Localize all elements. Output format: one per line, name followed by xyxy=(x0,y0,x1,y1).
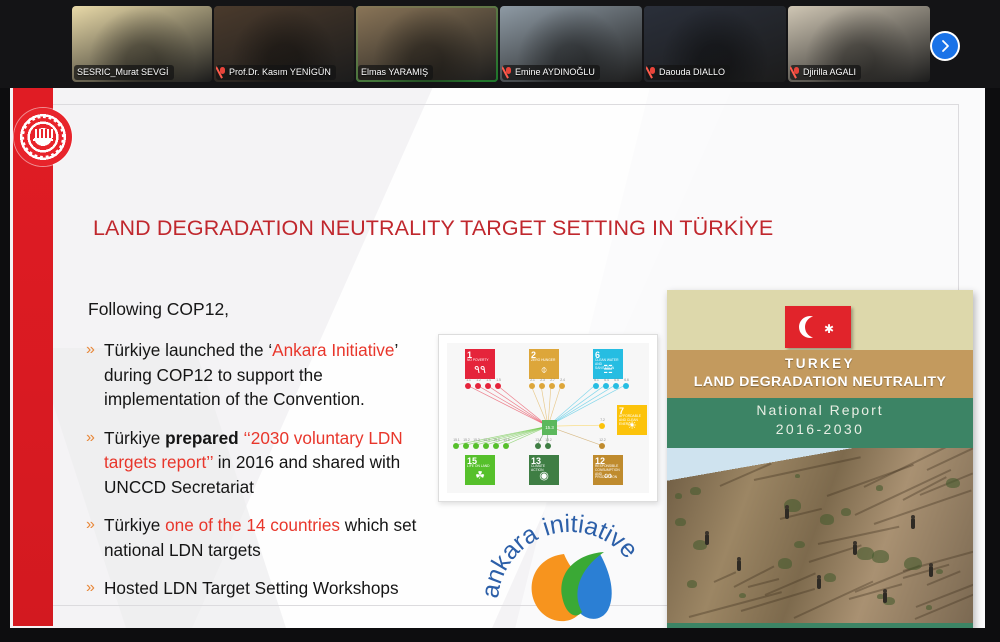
bullet-marker-icon: » xyxy=(82,513,104,562)
book-period: 2016-2030 xyxy=(667,421,973,437)
sdg-goal-12: 12RESPONSIBLE CONSUMPTION AND PRODUCTION… xyxy=(593,455,623,485)
sdg-target-label: 1.5 xyxy=(495,378,502,382)
sdg-target-label: 2.3 xyxy=(539,378,546,382)
photo-texture xyxy=(793,581,873,619)
sdg-target-labels: 15.115.215.315.415.515.9 xyxy=(453,438,510,442)
sdg-target-dots xyxy=(599,443,605,449)
bullet-text-run: Hosted LDN Target Setting Workshops xyxy=(104,578,399,598)
book-cover-image: ✱ TURKEY LAND DEGRADATION NEUTRALITY Nat… xyxy=(667,290,973,628)
photo-worker-figure xyxy=(737,560,741,571)
participant-name: SESRIC_Murat SEVGİ xyxy=(77,66,169,79)
photo-texture xyxy=(857,547,875,560)
sdg-target-dots xyxy=(465,383,501,389)
turkish-ministry-emblem-icon xyxy=(14,108,72,166)
sdg-target-label: 6.5 xyxy=(613,378,620,382)
ankara-initiative-logo: ankara initiative xyxy=(476,512,664,628)
sdg-target-dots xyxy=(535,443,551,449)
bullet-marker-icon: » xyxy=(82,338,104,412)
photo-texture xyxy=(854,468,951,515)
bullet-text-run: Türkiye xyxy=(104,428,165,448)
sdg-target-label: 15.9 xyxy=(503,438,510,442)
sdg-target-dot xyxy=(613,383,619,389)
bullet-text-run: one of the 14 countries xyxy=(165,515,340,535)
photo-worker-figure xyxy=(817,578,821,589)
photo-texture xyxy=(795,474,800,478)
video-tile[interactable]: Djirilla AGALI xyxy=(788,6,930,82)
sdg-target-dots xyxy=(593,383,629,389)
book-title-line2: LAND DEGRADATION NEUTRALITY xyxy=(667,374,973,390)
sdg-target-labels: 1.11.21.41.5 xyxy=(465,378,502,382)
bullet-item-14-countries: »Türkiye one of the 14 countries which s… xyxy=(82,513,417,562)
sdg-target-label: 13.2 xyxy=(545,438,552,442)
sdg-target-dot xyxy=(593,383,599,389)
sdg-goal-title: NO POVERTY xyxy=(467,359,493,363)
photo-texture xyxy=(754,456,861,481)
bullet-text: Türkiye one of the 14 countries which se… xyxy=(104,513,417,562)
sdg-goal-icon: ☵ xyxy=(596,364,620,377)
sdg-target-labels: 12.2 xyxy=(599,438,606,442)
sdg-linkage-diagram: 1NO POVERTY٩٩2ZERO HUNGER⌽6CLEAN WATER A… xyxy=(438,334,658,502)
sdg-target-dot xyxy=(453,443,459,449)
photo-texture xyxy=(820,514,834,524)
sdg-target-label: 13.1 xyxy=(535,438,542,442)
sdg-goal-6: 6CLEAN WATER AND SANITATION☵ xyxy=(593,349,623,379)
participant-nameplate: Djirilla AGALI xyxy=(790,65,861,80)
sdg-target-label: 6.6 xyxy=(623,378,630,382)
next-page-button[interactable] xyxy=(932,33,958,59)
page-title: LAND DEGRADATION NEUTRALITY TARGET SETTI… xyxy=(93,216,773,241)
book-title-line1: TURKEY xyxy=(667,356,973,371)
photo-texture xyxy=(794,541,804,549)
bullet-item-ldn-targets-report: »Türkiye prepared ‘‘2030 voluntary LDN t… xyxy=(82,426,417,500)
bullet-marker-icon: » xyxy=(82,576,104,601)
photo-worker-figure xyxy=(929,566,933,577)
participant-nameplate: Emine AYDINOĞLU xyxy=(502,65,600,80)
photo-texture xyxy=(926,605,932,609)
sdg-target-dot xyxy=(473,443,479,449)
microphone-muted-icon xyxy=(649,67,656,78)
sdg-target-dot xyxy=(539,383,545,389)
sdg-target-dot xyxy=(623,383,629,389)
photo-texture xyxy=(863,448,957,487)
sdg-target-label: 15.4 xyxy=(483,438,490,442)
sdg-goal-7: 7AFFORDABLE AND CLEAN ENERGY☀ xyxy=(617,405,647,435)
photo-worker-figure xyxy=(785,508,789,519)
sdg-goal-icon: ☀ xyxy=(620,420,644,433)
video-conference-strip: SESRIC_Murat SEVGİProf.Dr. Kasım YENİGÜN… xyxy=(0,0,1000,88)
sdg-target-dot xyxy=(599,443,605,449)
bullet-text-run: Türkiye launched the ‘ xyxy=(104,340,272,360)
sdg-link-line xyxy=(478,386,548,427)
photo-texture xyxy=(690,487,701,495)
sdg-goal-title: LIFE ON LAND xyxy=(467,465,493,469)
sdg-target-label: 7.2 xyxy=(599,418,606,422)
sdg-goal-icon: ∞ xyxy=(596,470,620,483)
participant-nameplate: Daouda DIALLO xyxy=(646,65,730,80)
photo-worker-figure xyxy=(705,534,709,545)
sdg-link-line xyxy=(548,386,624,427)
sdg-target-dot xyxy=(535,443,541,449)
presentation-slide: LAND DEGRADATION NEUTRALITY TARGET SETTI… xyxy=(10,88,985,628)
sdg-goal-15: 15LIFE ON LAND☘ xyxy=(465,455,495,485)
bullet-item-ankara-initiative: »Türkiye launched the ‘Ankara Initiative… xyxy=(82,338,417,412)
chevron-right-icon xyxy=(938,39,952,53)
bullet-list: »Türkiye launched the ‘Ankara Initiative… xyxy=(82,338,417,615)
sdg-target-label: 2.4 xyxy=(559,378,566,382)
book-subtitle: National Report xyxy=(667,402,973,418)
sdg-target-dot xyxy=(559,383,565,389)
sdg-goal-icon: ٩٩ xyxy=(468,364,492,377)
participant-name: Elmas YARAMIŞ xyxy=(361,66,428,79)
sdg-target-label: 2.1 xyxy=(529,378,536,382)
sdg-target-dot xyxy=(545,443,551,449)
sdg-target-dot xyxy=(529,383,535,389)
sdg-target-dot xyxy=(475,383,481,389)
photo-texture xyxy=(946,478,960,489)
bullet-text-run: Ankara Initiative xyxy=(272,340,394,360)
participant-name: Emine AYDINOĞLU xyxy=(515,66,595,79)
brand-title: Turkey xyxy=(707,627,759,628)
participant-name: Djirilla AGALI xyxy=(803,66,856,79)
sdg-target-label: 1.4 xyxy=(485,378,492,382)
sdg-target-dot xyxy=(483,443,489,449)
participant-name: Prof.Dr. Kasım YENİGÜN xyxy=(229,66,331,79)
microphone-muted-icon xyxy=(219,67,226,78)
microphone-muted-icon xyxy=(793,67,800,78)
photo-texture xyxy=(720,463,772,487)
bullet-text-run: prepared xyxy=(165,428,239,448)
bullet-text: Hosted LDN Target Setting Workshops xyxy=(104,576,399,601)
book-cover-photo xyxy=(667,448,973,628)
video-tile[interactable]: Daouda DIALLO xyxy=(644,6,786,82)
sdg-target-label: 15.3 xyxy=(473,438,480,442)
bullet-marker-icon: » xyxy=(82,426,104,500)
sdg-target-dot xyxy=(465,383,471,389)
video-tile[interactable]: Emine AYDINOĞLU xyxy=(500,6,642,82)
participant-nameplate: Prof.Dr. Kasım YENİGÜN xyxy=(216,65,336,80)
sdg-target-label: 6.1 xyxy=(593,378,600,382)
sdg-target-labels: 6.16.46.56.6 xyxy=(593,378,630,382)
sdg-target-label: 2.7 xyxy=(549,378,556,382)
sdg-target-dots xyxy=(453,443,509,449)
sdg-target-labels: 13.113.2 xyxy=(535,438,552,442)
lead-text: Following COP12, xyxy=(88,299,229,320)
sdg-target-label: 1.1 xyxy=(465,378,472,382)
sdg-goal-2: 2ZERO HUNGER⌽ xyxy=(529,349,559,379)
photo-texture xyxy=(872,550,889,562)
sdg-target-dot xyxy=(493,443,499,449)
sdg-link-line xyxy=(497,386,547,427)
bullet-text-run: Türkiye xyxy=(104,515,165,535)
photo-texture xyxy=(675,518,686,526)
photo-worker-figure xyxy=(911,518,915,529)
photo-texture xyxy=(739,593,746,598)
photo-texture xyxy=(904,557,922,570)
video-tile[interactable]: Elmas YARAMIŞ xyxy=(356,6,498,82)
sdg-hub-node: 15.3 xyxy=(542,420,557,435)
turkish-flag-icon: ✱ xyxy=(785,306,851,348)
video-tile[interactable]: SESRIC_Murat SEVGİ xyxy=(72,6,212,82)
sdg-target-dot xyxy=(485,383,491,389)
sdg-target-dot xyxy=(495,383,501,389)
sdg-link-line xyxy=(488,386,548,427)
sdg-goal-icon: ◉ xyxy=(532,470,556,483)
photo-texture xyxy=(841,508,852,516)
photo-texture xyxy=(936,569,943,574)
sdg-goal-1: 1NO POVERTY٩٩ xyxy=(465,349,495,379)
photo-texture xyxy=(687,580,698,588)
photo-texture xyxy=(818,526,899,545)
participant-nameplate: Elmas YARAMIŞ xyxy=(358,65,433,80)
sdg-target-label: 15.1 xyxy=(453,438,460,442)
sdg-target-label: 6.4 xyxy=(603,378,610,382)
photo-texture xyxy=(876,485,883,490)
sdg-target-dot xyxy=(603,383,609,389)
bullet-text: Türkiye launched the ‘Ankara Initiative’… xyxy=(104,338,417,412)
photo-worker-figure xyxy=(883,592,887,603)
sdg-target-dot xyxy=(599,423,605,429)
sdg-target-labels: 7.2 xyxy=(599,418,606,422)
bullet-item-workshops: »Hosted LDN Target Setting Workshops xyxy=(82,576,417,601)
sdg-target-label: 12.2 xyxy=(599,438,606,442)
sdg-target-label: 15.2 xyxy=(463,438,470,442)
sdg-goal-icon: ☘ xyxy=(468,470,492,483)
slide-red-sidebar xyxy=(13,88,53,626)
sdg-target-dot xyxy=(463,443,469,449)
photo-texture xyxy=(748,578,780,588)
sdg-goal-icon: ⌽ xyxy=(532,364,556,377)
sdg-goal-title: ZERO HUNGER xyxy=(531,359,557,363)
photo-texture xyxy=(778,558,792,569)
photo-texture xyxy=(824,573,836,582)
sdg-target-dots xyxy=(599,423,605,429)
sdg-link-line xyxy=(468,386,548,427)
photo-worker-figure xyxy=(853,544,857,555)
participant-nameplate: SESRIC_Murat SEVGİ xyxy=(74,65,174,80)
sdg-goal-13: 13CLIMATE ACTION◉ xyxy=(529,455,559,485)
photo-texture xyxy=(675,493,682,499)
photo-texture xyxy=(689,591,783,618)
video-tile[interactable]: Prof.Dr. Kasım YENİGÜN xyxy=(214,6,354,82)
sdg-target-dot xyxy=(549,383,555,389)
photo-texture xyxy=(765,572,816,596)
participant-name: Daouda DIALLO xyxy=(659,66,725,79)
sdg-target-labels: 2.12.32.72.4 xyxy=(529,378,566,382)
microphone-muted-icon xyxy=(505,67,512,78)
sdg-target-label: 15.5 xyxy=(493,438,500,442)
sdg-target-dot xyxy=(503,443,509,449)
bullet-text: Türkiye prepared ‘‘2030 voluntary LDN ta… xyxy=(104,426,417,500)
sdg-target-dots xyxy=(529,383,565,389)
sdg-target-label: 1.2 xyxy=(475,378,482,382)
photo-texture xyxy=(714,571,737,583)
